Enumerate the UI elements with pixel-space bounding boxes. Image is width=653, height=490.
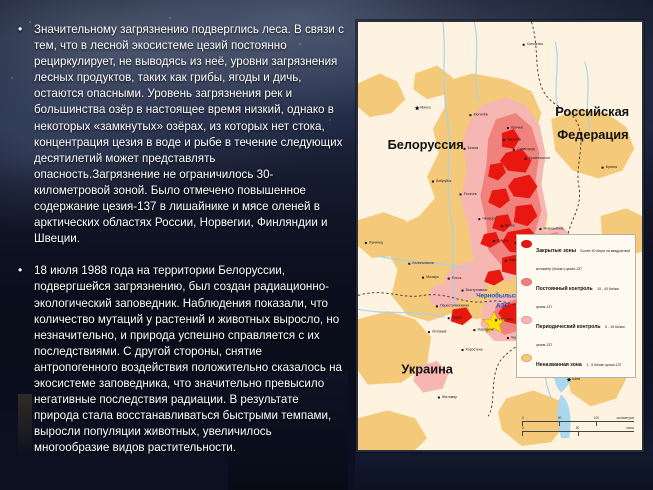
capital-star-icon [415,106,420,111]
city-label: Ельск [452,276,462,280]
city-dot-icon [478,218,480,220]
city-dot-icon [432,181,434,183]
scale-mi-line: 0 50 миль [522,431,634,438]
city-marker: Чериков [503,137,521,141]
city-marker: Овруч [448,316,462,320]
city-marker: Гомель [493,238,509,242]
city-marker: Брянск [602,165,618,169]
city-dot-icon [513,149,515,151]
legend-title-1: Постоянный контроль [536,286,593,292]
scale-mi-tick-0: 0 [522,426,524,430]
city-label: Припять [499,318,513,322]
city-label: Могилёв [474,113,488,117]
city-label: Выступовичи [466,288,488,292]
scale-mi-unit: миль [627,426,635,430]
city-label: Переступиновичи [440,304,469,308]
city-marker: Коростень [462,347,483,351]
slide-text-column: Значительному загрязнению подверглись ле… [14,22,344,472]
city-dot-icon [422,277,424,279]
city-label: Чериков [507,137,521,141]
city-label: Чечерск [482,217,496,221]
city-marker: Новозыбков [539,226,563,230]
legend-title-2: Периодический контроль [536,324,601,330]
city-dot-icon [436,305,438,307]
legend-row-3: Неназванная зона 1 - 5 Ки/км² цезия-137 [521,353,631,371]
city-dot-icon [448,278,450,280]
city-label: Калинковичи [412,261,433,265]
city-marker: Минск [415,106,431,111]
city-marker: Ельск [448,276,462,280]
country-label: Российская [555,104,629,119]
scale-km-unit: километров [617,416,634,420]
legend-swatch-periodic-control [521,316,532,324]
city-label: Кричев [511,125,523,129]
city-label: Брянск [606,165,618,169]
city-label: Бобруйск [436,179,452,183]
legend-row-0: Закрытые зоны Более 40 Кюри на квадратны… [521,239,631,275]
city-dot-icon [448,317,450,319]
city-label: Лунинец [369,240,383,244]
city-dot-icon [501,225,503,227]
legend-swatch-permanent-control [521,278,532,286]
city-marker: Славгород [513,147,536,151]
city-marker: Припять [495,318,513,322]
city-marker: Могилёв [469,113,487,117]
city-marker: Быхов [464,146,479,150]
map-legend: Закрытые зоны Более 40 Кюри на квадратны… [516,234,636,378]
city-dot-icon [460,193,462,195]
city-dot-icon [428,331,430,333]
city-marker: Народичи [473,328,493,332]
legend-swatch-closed-zone [521,240,532,248]
city-dot-icon [469,114,471,116]
city-dot-icon [507,127,509,129]
city-label: Народичи [478,328,494,332]
city-dot-icon [462,290,464,292]
scale-km-tick-0: 0 [522,416,524,420]
city-label: Гомель [497,238,509,242]
legend-title-0: Закрытые зоны [536,248,576,254]
city-dot-icon [495,319,497,321]
contamination-map: МинскСмоленскМогилёвБыховБобруйскРогачев… [356,20,644,452]
chernobyl-plant-label-line2: АЭС [496,302,510,309]
city-dot-icon [365,242,367,244]
city-marker: Бобруйск [432,179,452,183]
legend-row-1: Постоянный контроль 15 - 40 Ки/км² цезия… [521,277,631,313]
city-label: Славгород [517,147,536,151]
city-dot-icon [503,139,505,141]
legend-swatch-unnamed-zone [521,354,532,362]
city-label: Быхов [468,146,479,150]
bullet-list: Значительному загрязнению подверглись ле… [14,22,344,456]
scale-km-tick-2: 100 [594,416,599,420]
city-label: Краснополье [529,156,550,160]
city-label: Ветка [505,223,514,227]
city-dot-icon [464,148,466,150]
city-marker: Ветка [501,223,515,227]
city-label: Литовый [432,329,446,333]
city-dot-icon [602,167,604,169]
city-dot-icon [505,260,507,262]
scale-mi-tick-1: 50 [576,426,580,430]
country-label: Украина [401,362,453,377]
city-label: Овруч [452,316,462,320]
city-marker: Краснополье [525,156,551,160]
map-scale-bar: 0 50 100 километров 0 50 миль [522,421,634,438]
country-label: Федерация [557,127,628,142]
city-marker: Переступиновичи [436,304,469,308]
bullet-item-2: 18 июля 1988 года на территории Белорусс… [14,263,344,456]
city-dot-icon [525,158,527,160]
city-marker: Смоленск [523,42,544,46]
city-marker: Литовый [428,329,446,333]
city-dot-icon [539,228,541,230]
city-label: Житомир [442,395,457,399]
legend-title-3: Неназванная зона [536,362,582,368]
city-label: Смоленск [527,42,544,46]
city-dot-icon [408,263,410,265]
city-marker: Рогачев [460,192,477,196]
city-marker: Выступовичи [462,288,488,292]
city-label: Коростень [466,347,483,351]
city-dot-icon [493,240,495,242]
presentation-slide: Значительному загрязнению подверглись ле… [0,0,653,490]
city-label: Минск [420,106,431,110]
country-label: Белоруссия [388,137,464,152]
bullet-item-1: Значительному загрязнению подверглись ле… [14,22,344,247]
city-marker: Калинковичи [408,261,433,265]
city-label: Мозырь [426,275,439,279]
city-label: Рогачев [464,192,477,196]
city-marker: Чечерск [478,217,496,221]
legend-row-2: Периодический контроль 5 - 15 Ки/км² цез… [521,315,631,351]
city-dot-icon [523,44,525,46]
city-label: Новозыбков [544,226,564,230]
legend-sub-3: 1 - 5 Ки/км² цезия-137 [586,363,621,367]
city-marker: Мозырь [422,275,439,279]
city-marker: Кричев [507,125,523,129]
city-marker: Лунинец [365,240,383,244]
city-dot-icon [438,397,440,399]
city-dot-icon [462,349,464,351]
city-dot-icon [507,337,509,339]
city-dot-icon [473,329,475,331]
scale-km-tick-1: 50 [558,416,562,420]
city-marker: Житомир [438,395,457,399]
